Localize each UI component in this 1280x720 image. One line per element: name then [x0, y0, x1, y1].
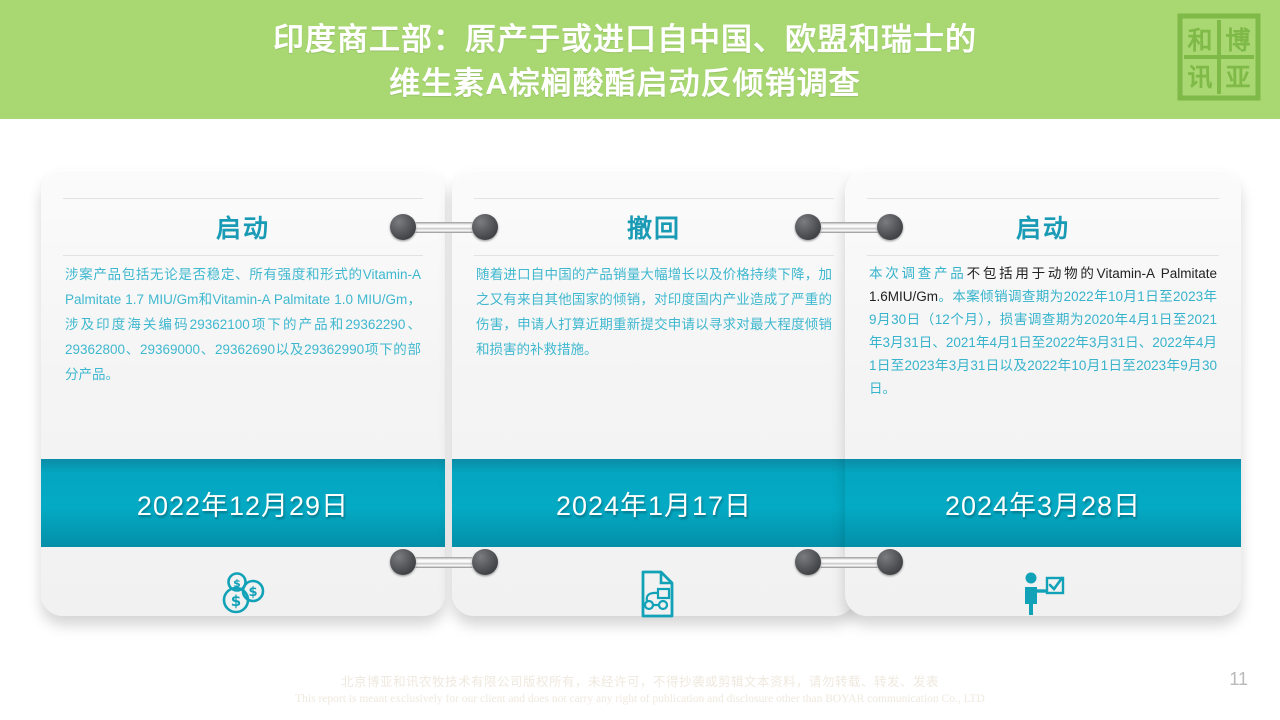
card-2-header: 撤回	[474, 198, 834, 256]
card-1-title: 启动	[216, 209, 270, 245]
connector-cap-left	[795, 549, 821, 575]
slide-header: 印度商工部：原产于或进口自中国、欧盟和瑞士的 维生素A棕榈酸酯启动反倾销调查 和…	[0, 0, 1280, 119]
timeline-card-1[interactable]: 启动 涉案产品包括无论是否稳定、所有强度和形式的Vitamin-A Palmit…	[41, 170, 445, 616]
card-1-body-text: 涉案产品包括无论是否稳定、所有强度和形式的Vitamin-A Palmitate…	[65, 267, 421, 382]
card-1-date: 2022年12月29日	[137, 484, 349, 523]
svg-text:讯: 讯	[1187, 63, 1212, 92]
connector-cap-right	[472, 214, 498, 240]
timeline-card-3[interactable]: 启动 本次调查产品不包括用于动物的Vitamin-A Palmitate 1.6…	[845, 170, 1241, 616]
card-1-header: 启动	[63, 198, 423, 256]
card-2-body-text: 随着进口自中国的产品销量大幅增长以及价格持续下降，加之又有来自其他国家的倾销，对…	[476, 267, 832, 357]
card-3-body-text-post: 。本案倾销调查期为2022年10月1日至2023年9月30日（12个月），损害调…	[869, 289, 1217, 396]
svg-text:$: $	[248, 585, 257, 600]
connector-cap-right	[877, 214, 903, 240]
card-2-body: 随着进口自中国的产品销量大幅增长以及价格持续下降，加之又有来自其他国家的倾销，对…	[476, 262, 832, 457]
connector-bottom-right	[795, 549, 903, 575]
svg-text:$: $	[231, 592, 241, 610]
card-2-title: 撤回	[627, 209, 681, 245]
coins-dollar-icon: $ $ $	[217, 569, 269, 615]
page-title-line-2: 维生素A棕榈酸酯启动反倾销调查	[120, 62, 1130, 106]
connector-top-left	[390, 214, 498, 240]
footer-line-english: This report is meant exclusively for our…	[0, 691, 1280, 708]
svg-text:和: 和	[1187, 26, 1212, 55]
page-number: 11	[1229, 669, 1248, 690]
page-title-line-1: 印度商工部：原产于或进口自中国、欧盟和瑞士的	[120, 18, 1130, 62]
card-3-body-text-pre: 本次调查产品	[869, 266, 967, 281]
card-3-date-bar: 2024年3月28日	[845, 459, 1241, 547]
connector-cap-right	[877, 549, 903, 575]
connector-cap-left	[390, 549, 416, 575]
connector-cap-right	[472, 549, 498, 575]
card-3-date: 2024年3月28日	[945, 484, 1141, 523]
connector-cap-left	[795, 214, 821, 240]
card-1-date-bar: 2022年12月29日	[41, 459, 445, 547]
boyar-seal-logo-icon: 和 博 讯 亚	[1176, 11, 1262, 103]
connector-bottom-left	[390, 549, 498, 575]
cards-board: 启动 涉案产品包括无论是否稳定、所有强度和形式的Vitamin-A Palmit…	[0, 119, 1280, 659]
card-2-date-bar: 2024年1月17日	[452, 459, 856, 547]
connector-cap-left	[390, 214, 416, 240]
connector-top-right	[795, 214, 903, 240]
footer-disclaimer: 北京博亚和讯农牧技术有限公司版权所有，未经许可，不得抄袭或剪辑文本资料，请勿转载…	[0, 674, 1280, 708]
document-flowchart-icon	[632, 569, 676, 619]
card-3-title: 启动	[1016, 209, 1070, 245]
card-1-icon-zone: $ $ $	[41, 547, 445, 616]
card-3-header: 启动	[867, 198, 1219, 256]
card-3-body: 本次调查产品不包括用于动物的Vitamin-A Palmitate 1.6MIU…	[869, 262, 1217, 457]
footer-line-chinese: 北京博亚和讯农牧技术有限公司版权所有，未经许可，不得抄袭或剪辑文本资料，请勿转载…	[0, 674, 1280, 691]
svg-text:$: $	[233, 577, 241, 590]
page-title: 印度商工部：原产于或进口自中国、欧盟和瑞士的 维生素A棕榈酸酯启动反倾销调查	[120, 18, 1130, 106]
svg-text:博: 博	[1225, 26, 1250, 55]
card-3-icon-zone	[845, 547, 1241, 616]
svg-text:亚: 亚	[1225, 63, 1250, 92]
card-1-body: 涉案产品包括无论是否稳定、所有强度和形式的Vitamin-A Palmitate…	[65, 262, 421, 457]
card-2-date: 2024年1月17日	[556, 484, 752, 523]
person-checkbox-icon	[1018, 569, 1068, 615]
